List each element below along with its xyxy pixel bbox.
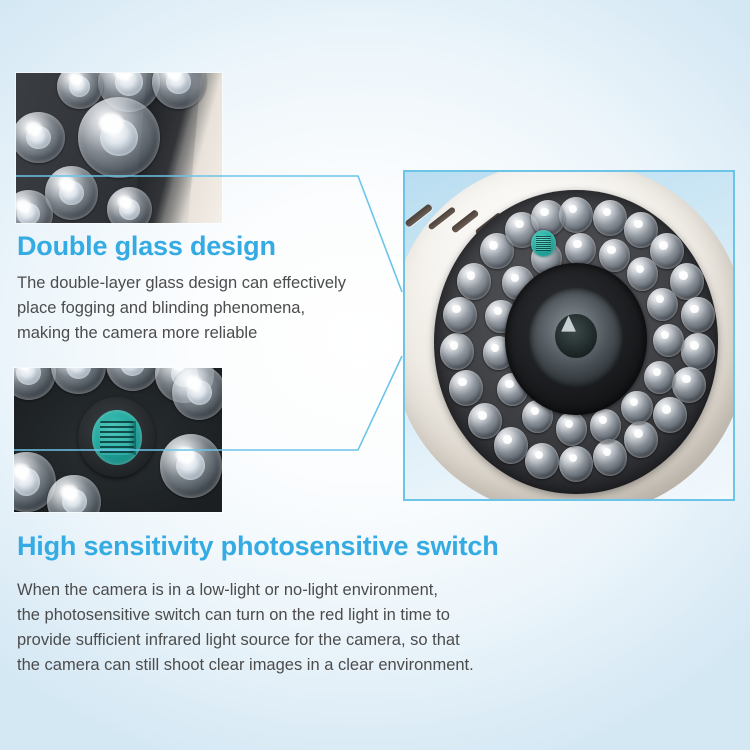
ir-led — [590, 409, 621, 442]
ir-led — [672, 367, 706, 403]
feature-body-photosensitive-switch: When the camera is in a low-light or no-… — [17, 578, 577, 678]
ldr-macro-scene — [14, 368, 222, 512]
ir-led — [494, 427, 528, 463]
photoresistor-face — [92, 410, 143, 465]
ir-led — [556, 412, 587, 445]
camera-housing — [403, 170, 735, 501]
led-lens — [160, 434, 222, 497]
lens-housing — [505, 263, 647, 415]
led-lens — [78, 97, 160, 178]
led-lens — [16, 112, 65, 163]
led-macro-scene — [16, 73, 222, 223]
ir-led — [593, 439, 627, 475]
ir-led — [559, 446, 593, 482]
camera-led-face — [434, 190, 717, 494]
feature-headline-double-glass: Double glass design — [17, 231, 276, 262]
feature-body-double-glass: The double-layer glass design can effect… — [17, 271, 437, 346]
ir-led — [627, 257, 658, 290]
main-product-photo — [403, 170, 735, 501]
ir-led — [621, 391, 652, 424]
led-lens — [172, 368, 222, 420]
ir-led — [644, 361, 675, 394]
led-lens — [106, 368, 160, 391]
ir-led — [440, 333, 474, 369]
ir-led — [653, 397, 687, 433]
camera-lens — [529, 288, 623, 388]
ir-led — [653, 324, 684, 357]
ir-led — [449, 370, 483, 406]
lens-core — [555, 314, 596, 358]
ir-led — [593, 200, 627, 236]
ir-led — [525, 443, 559, 479]
inset-photo-double-glass — [16, 73, 222, 223]
ir-led — [681, 333, 715, 369]
ir-led — [624, 421, 658, 457]
ir-led — [565, 233, 596, 266]
infographic-page: Double glass design The double-layer gla… — [0, 0, 750, 750]
photoresistor-housing — [78, 397, 155, 478]
ir-led — [457, 263, 491, 299]
inset-photo-photosensitive-switch — [14, 368, 222, 512]
ir-led — [681, 297, 715, 333]
led-lens — [107, 187, 152, 223]
feature-headline-photosensitive-switch: High sensitivity photosensitive switch — [17, 531, 499, 562]
photoresistor-serpentine-pattern — [100, 421, 135, 455]
ir-led — [599, 239, 630, 272]
led-lens — [51, 368, 105, 394]
led-lens — [14, 368, 56, 400]
ir-led — [647, 288, 678, 321]
ir-led — [443, 297, 477, 333]
